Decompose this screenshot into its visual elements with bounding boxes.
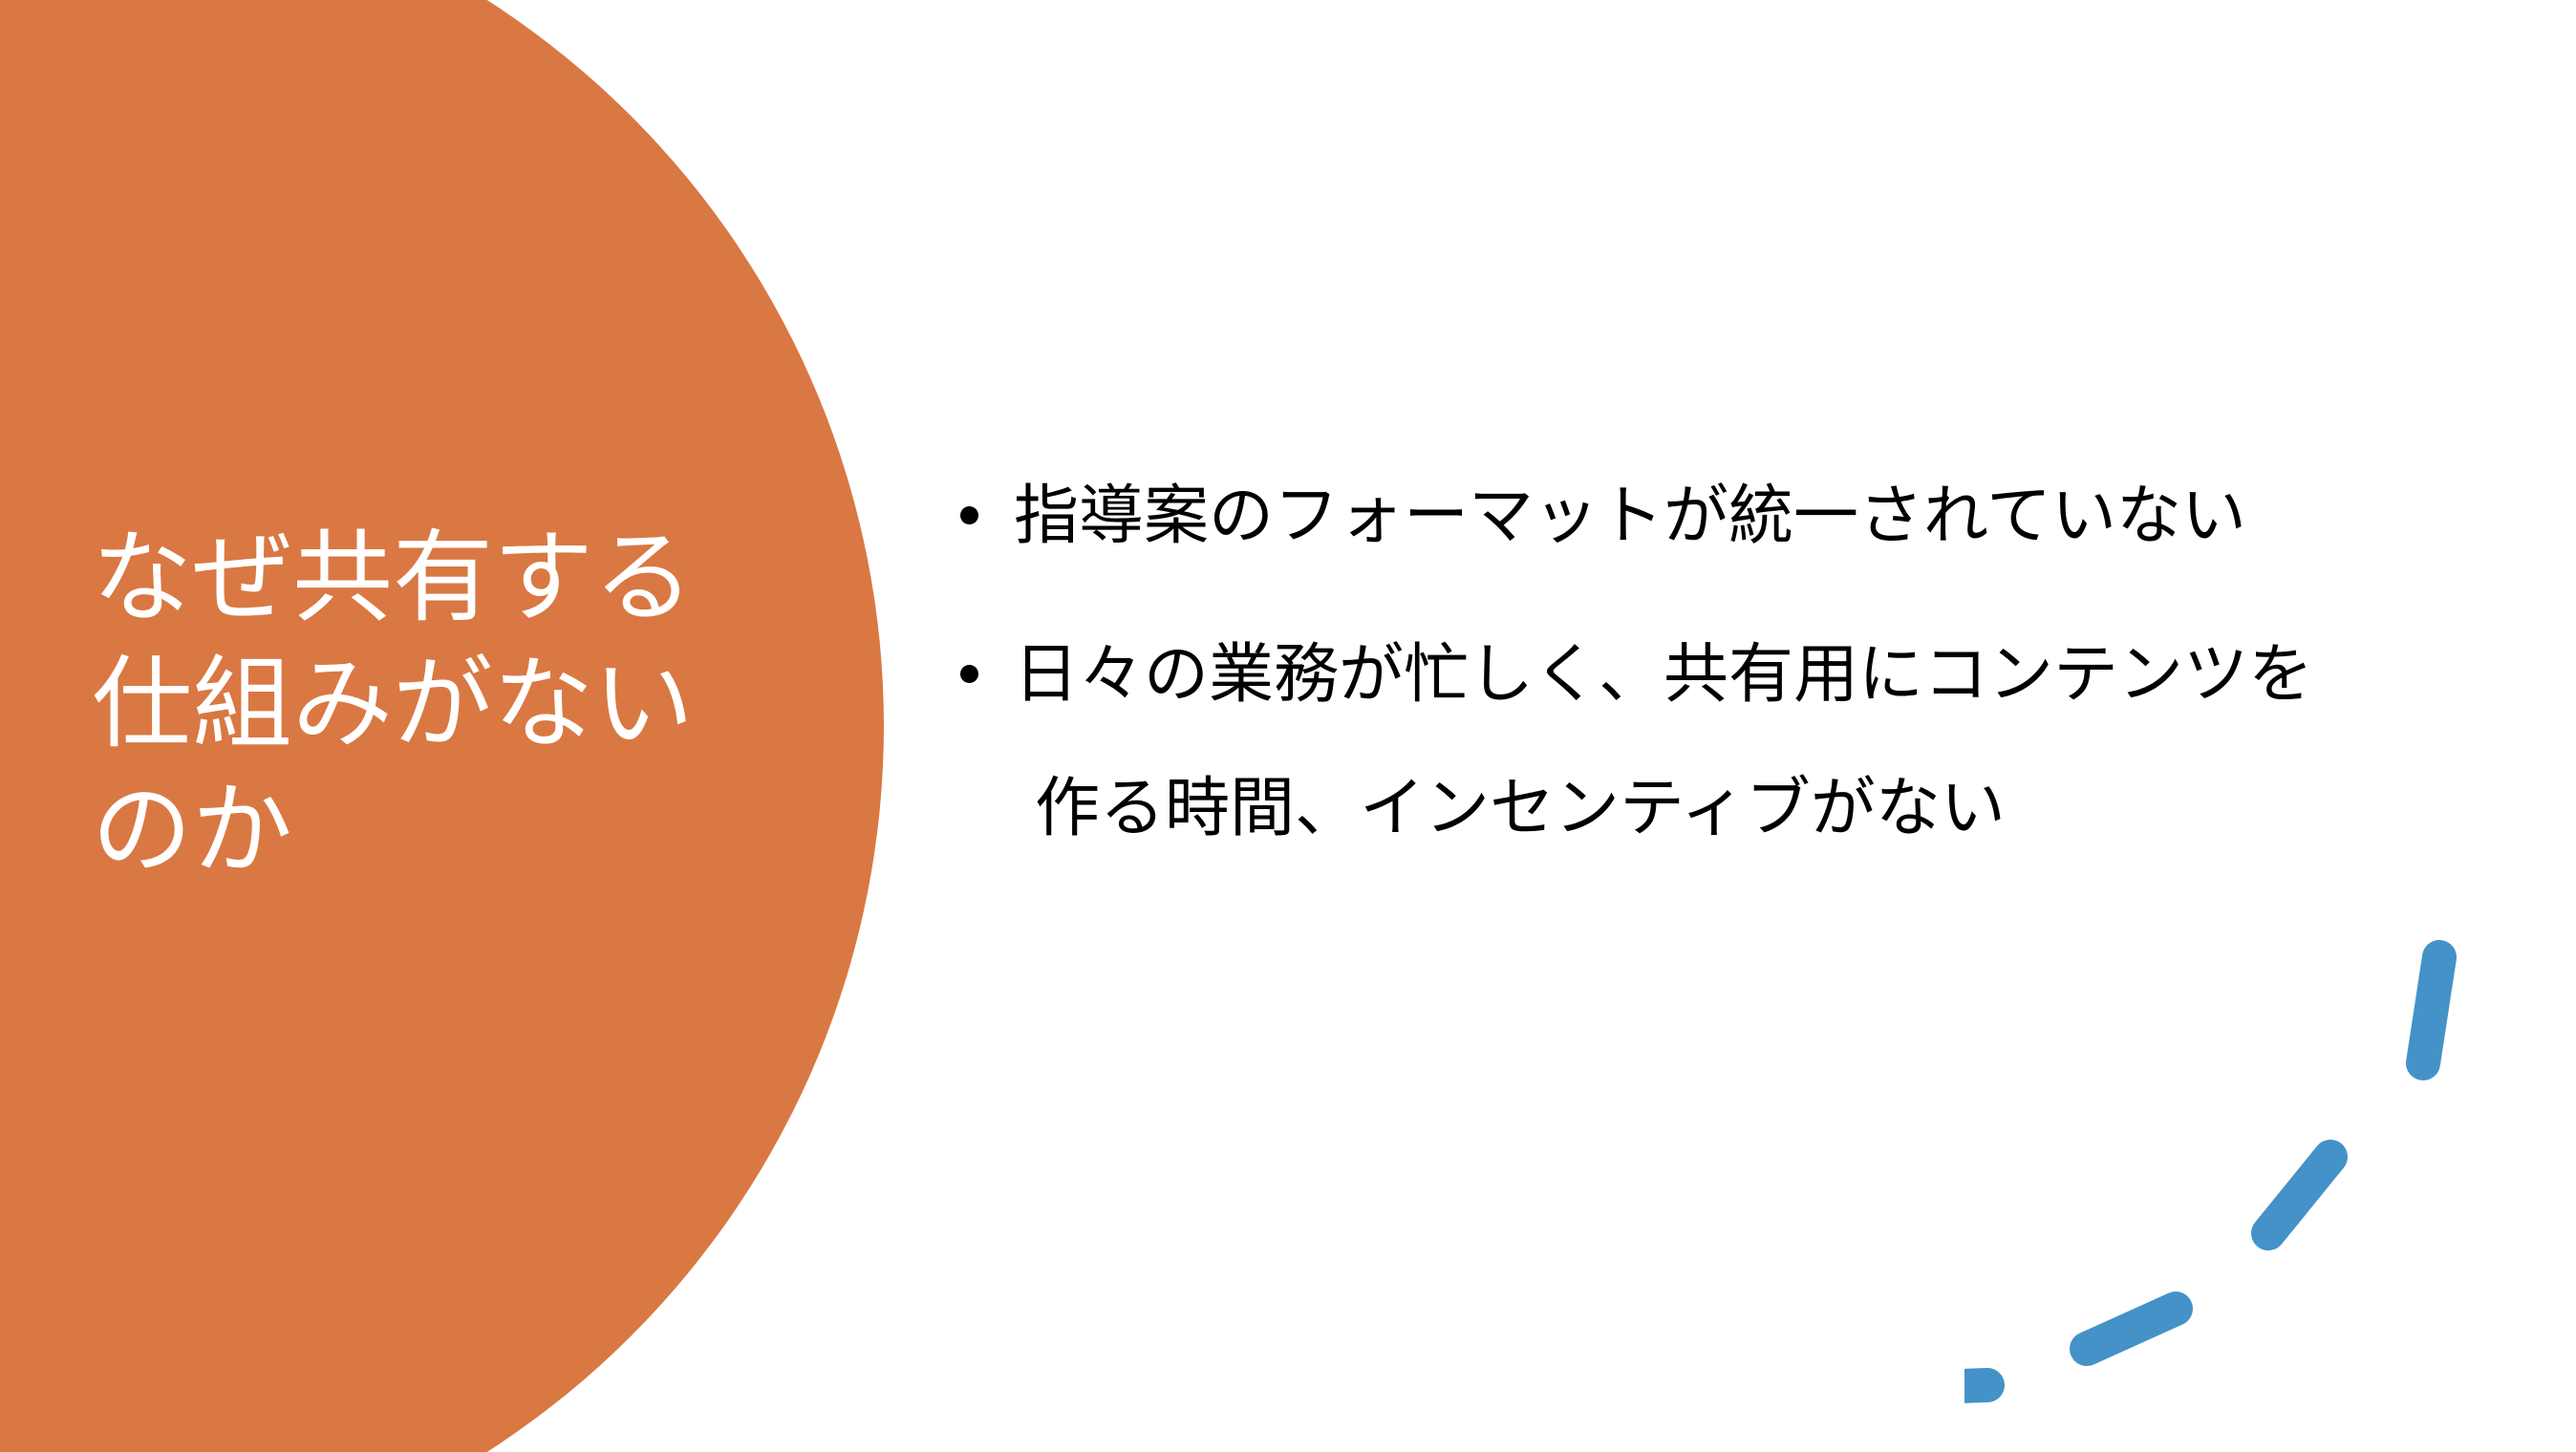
arc-dash-1 (2423, 957, 2439, 1063)
bullet-dot-icon (960, 665, 978, 683)
bullet-item-2-text: 日々の業務が忙しく、共有用にコンテンツを 作る時間、インセンティブがない (1014, 608, 2499, 875)
arc-dash-2 (2268, 1157, 2330, 1233)
bullet-2-line-1: 日々の業務が忙しく、共有用にコンテンツを (1014, 608, 2499, 741)
arc-dash-4 (1964, 1385, 1987, 1389)
bullet-dot-icon (960, 506, 978, 524)
bullet-2-line-2: 作る時間、インセンティブがない (1014, 741, 2499, 875)
bullet-item-1: 指導案のフォーマットが統一されていない (951, 449, 2499, 583)
title-line-3: のか (92, 768, 837, 894)
arc-dash-3 (2087, 1309, 2176, 1349)
bullet-1-line-1: 指導案のフォーマットが統一されていない (1014, 449, 2499, 583)
dashed-arc-decoration (1964, 936, 2576, 1452)
bullet-item-1-text: 指導案のフォーマットが統一されていない (1014, 449, 2499, 583)
bullet-item-2: 日々の業務が忙しく、共有用にコンテンツを 作る時間、インセンティブがない (951, 608, 2499, 875)
title-line-1: なぜ共有する (92, 516, 837, 642)
body-bullet-list: 指導案のフォーマットが統一されていない 日々の業務が忙しく、共有用にコンテンツを… (951, 449, 2499, 900)
slide-canvas: なぜ共有する 仕組みがない のか 指導案のフォーマットが統一されていない 日々の… (0, 0, 2576, 1452)
title-line-2: 仕組みがない (92, 642, 837, 768)
slide-title: なぜ共有する 仕組みがない のか (92, 516, 837, 894)
